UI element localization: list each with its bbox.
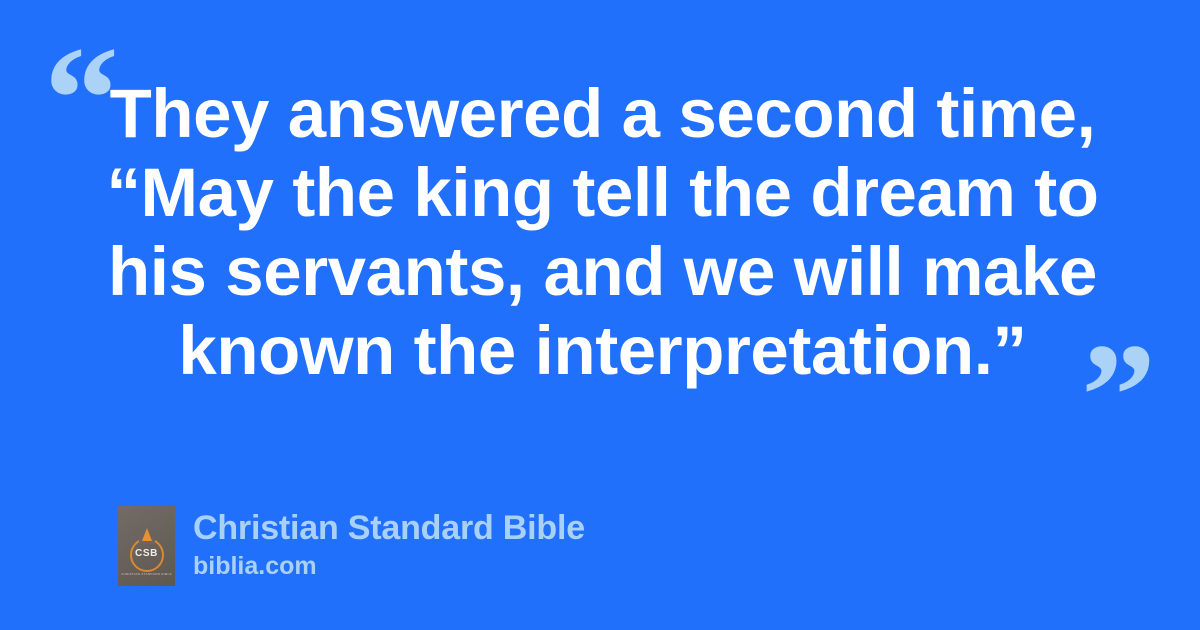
attribution: CSB CHRISTIAN STANDARD BIBLE Christian S…	[118, 506, 585, 586]
quote-line: his servants, and we will make	[60, 232, 1145, 311]
source-site-label: biblia.com	[193, 551, 585, 581]
book-cover-caption: CHRISTIAN STANDARD BIBLE	[118, 572, 175, 576]
bible-translation-title: Christian Standard Bible	[193, 508, 585, 548]
attribution-text: Christian Standard Bible biblia.com	[193, 506, 585, 581]
close-quote-icon: ”	[1081, 321, 1156, 471]
bible-verse-share-card: “ They answered a second time, “May the …	[0, 0, 1200, 630]
quote-line: “May the king tell the dream to	[60, 153, 1145, 232]
quote-line: known the interpretation.”	[60, 311, 1145, 390]
quote-line: They answered a second time,	[60, 74, 1145, 153]
quote-text-block: They answered a second time, “May the ki…	[60, 74, 1145, 390]
book-emblem-label: CSB	[118, 548, 175, 559]
flame-icon	[142, 528, 152, 541]
book-cover-thumbnail: CSB CHRISTIAN STANDARD BIBLE	[118, 506, 175, 586]
